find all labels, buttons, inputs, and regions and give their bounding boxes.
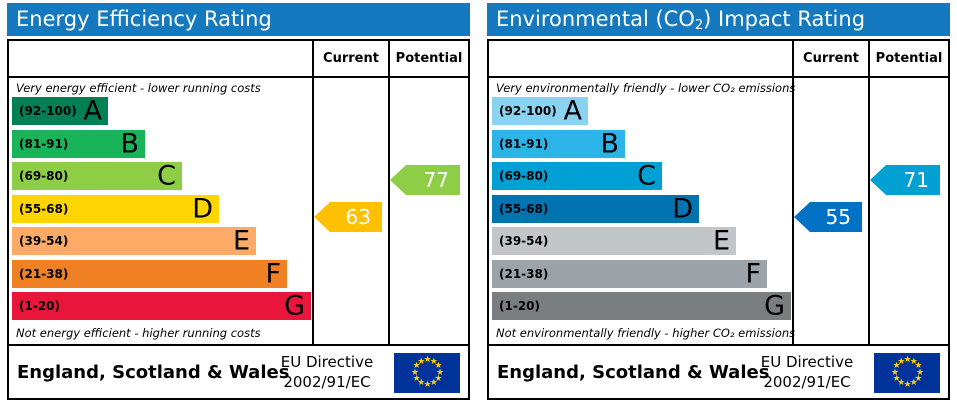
eu-flag-star: ★ (417, 359, 424, 366)
chart-title-tail: ) Impact Rating (703, 7, 865, 31)
region-label: England, Scotland & Wales (497, 346, 769, 400)
band-letter-label: E (713, 228, 730, 255)
band-letter-label: G (764, 293, 785, 320)
eu-directive-line1: EU Directive (268, 352, 386, 372)
column-header-potential: Potential (870, 41, 948, 76)
eu-flag-icon: ★★★★★★★★★★★★ (874, 353, 940, 393)
band-letter-label: E (233, 228, 250, 255)
chart-footer: England, Scotland & WalesEU Directive200… (489, 346, 948, 400)
rating-band-g: (1-20)G (492, 292, 791, 320)
eu-directive-label: EU Directive2002/91/EC (748, 352, 866, 392)
chart-title-energy-efficiency: Energy Efficiency Rating (7, 3, 470, 36)
band-range-label: (21-38) (19, 260, 68, 288)
chart-title-co2-impact: Environmental (CO2) Impact Rating (487, 3, 950, 36)
rating-band-c: (69-80)C (12, 162, 182, 190)
band-letter-label: D (672, 195, 693, 222)
rating-band-b: (81-91)B (492, 130, 625, 158)
potential-rating-arrow: 71 (870, 165, 940, 195)
region-label: England, Scotland & Wales (17, 346, 289, 400)
current-rating-arrow: 55 (794, 202, 862, 232)
band-letter-label: C (157, 163, 176, 190)
eu-directive-label: EU Directive2002/91/EC (268, 352, 386, 392)
rating-band-f: (21-38)F (12, 260, 287, 288)
rating-bands: (92-100)A(81-91)B(69-80)C(55-68)D(39-54)… (12, 97, 311, 323)
eu-flag-star: ★ (897, 359, 904, 366)
band-range-label: (92-100) (499, 97, 557, 125)
caption-bottom: Not environmentally friendly - higher CO… (496, 324, 791, 342)
band-range-label: (55-68) (19, 195, 68, 223)
row-divider-head (9, 76, 468, 78)
rating-band-e: (39-54)E (492, 227, 736, 255)
epc-panel-co2-impact: Environmental (CO2) Impact RatingCurrent… (480, 0, 957, 404)
rating-band-a: (92-100)A (492, 97, 588, 125)
rating-band-g: (1-20)G (12, 292, 311, 320)
rating-band-f: (21-38)F (492, 260, 767, 288)
band-letter-label: B (120, 130, 139, 157)
band-range-label: (81-91) (499, 130, 548, 158)
caption-top: Very energy efficient - lower running co… (16, 79, 311, 97)
band-range-label: (39-54) (499, 227, 548, 255)
epc-chart-page: Energy Efficiency RatingCurrentPotential… (0, 0, 957, 404)
caption-top: Very environmentally friendly - lower CO… (496, 79, 791, 97)
eu-flag-icon: ★★★★★★★★★★★★ (394, 353, 460, 393)
band-letter-label: G (284, 293, 305, 320)
band-letter-label: F (745, 260, 761, 287)
caption-bottom: Not energy efficient - higher running co… (16, 324, 311, 342)
band-letter-label: D (192, 195, 213, 222)
band-letter-label: F (265, 260, 281, 287)
column-divider-2 (388, 41, 390, 344)
column-header-current: Current (314, 41, 388, 76)
current-rating-arrow: 63 (314, 202, 382, 232)
eu-directive-line1: EU Directive (748, 352, 866, 372)
chart-frame: CurrentPotentialVery energy efficient - … (7, 39, 470, 400)
band-range-label: (1-20) (19, 292, 60, 320)
rating-band-b: (81-91)B (12, 130, 145, 158)
column-divider-2 (868, 41, 870, 344)
band-range-label: (55-68) (499, 195, 548, 223)
band-range-label: (69-80) (19, 162, 68, 190)
band-letter-label: B (600, 130, 619, 157)
band-letter-label: A (564, 98, 582, 125)
epc-panel-energy-efficiency: Energy Efficiency RatingCurrentPotential… (0, 0, 477, 404)
potential-rating-arrow: 77 (390, 165, 460, 195)
rating-band-e: (39-54)E (12, 227, 256, 255)
chart-footer: England, Scotland & WalesEU Directive200… (9, 346, 468, 400)
rating-band-d: (55-68)D (492, 195, 699, 223)
eu-directive-line2: 2002/91/EC (748, 372, 866, 392)
band-letter-label: C (637, 163, 656, 190)
rating-bands: (92-100)A(81-91)B(69-80)C(55-68)D(39-54)… (492, 97, 791, 323)
column-divider-1 (312, 41, 314, 344)
band-range-label: (81-91) (19, 130, 68, 158)
chart-title-main: Environmental (CO (496, 7, 695, 31)
band-letter-label: A (84, 98, 102, 125)
column-header-current: Current (794, 41, 868, 76)
band-range-label: (39-54) (19, 227, 68, 255)
chart-title-subscript: 2 (695, 18, 703, 33)
band-range-label: (1-20) (499, 292, 540, 320)
column-header-potential: Potential (390, 41, 468, 76)
band-range-label: (69-80) (499, 162, 548, 190)
rating-band-c: (69-80)C (492, 162, 662, 190)
row-divider-head (489, 76, 948, 78)
chart-frame: CurrentPotentialVery environmentally fri… (487, 39, 950, 400)
eu-directive-line2: 2002/91/EC (268, 372, 386, 392)
band-range-label: (92-100) (19, 97, 77, 125)
rating-band-a: (92-100)A (12, 97, 108, 125)
band-range-label: (21-38) (499, 260, 548, 288)
rating-band-d: (55-68)D (12, 195, 219, 223)
